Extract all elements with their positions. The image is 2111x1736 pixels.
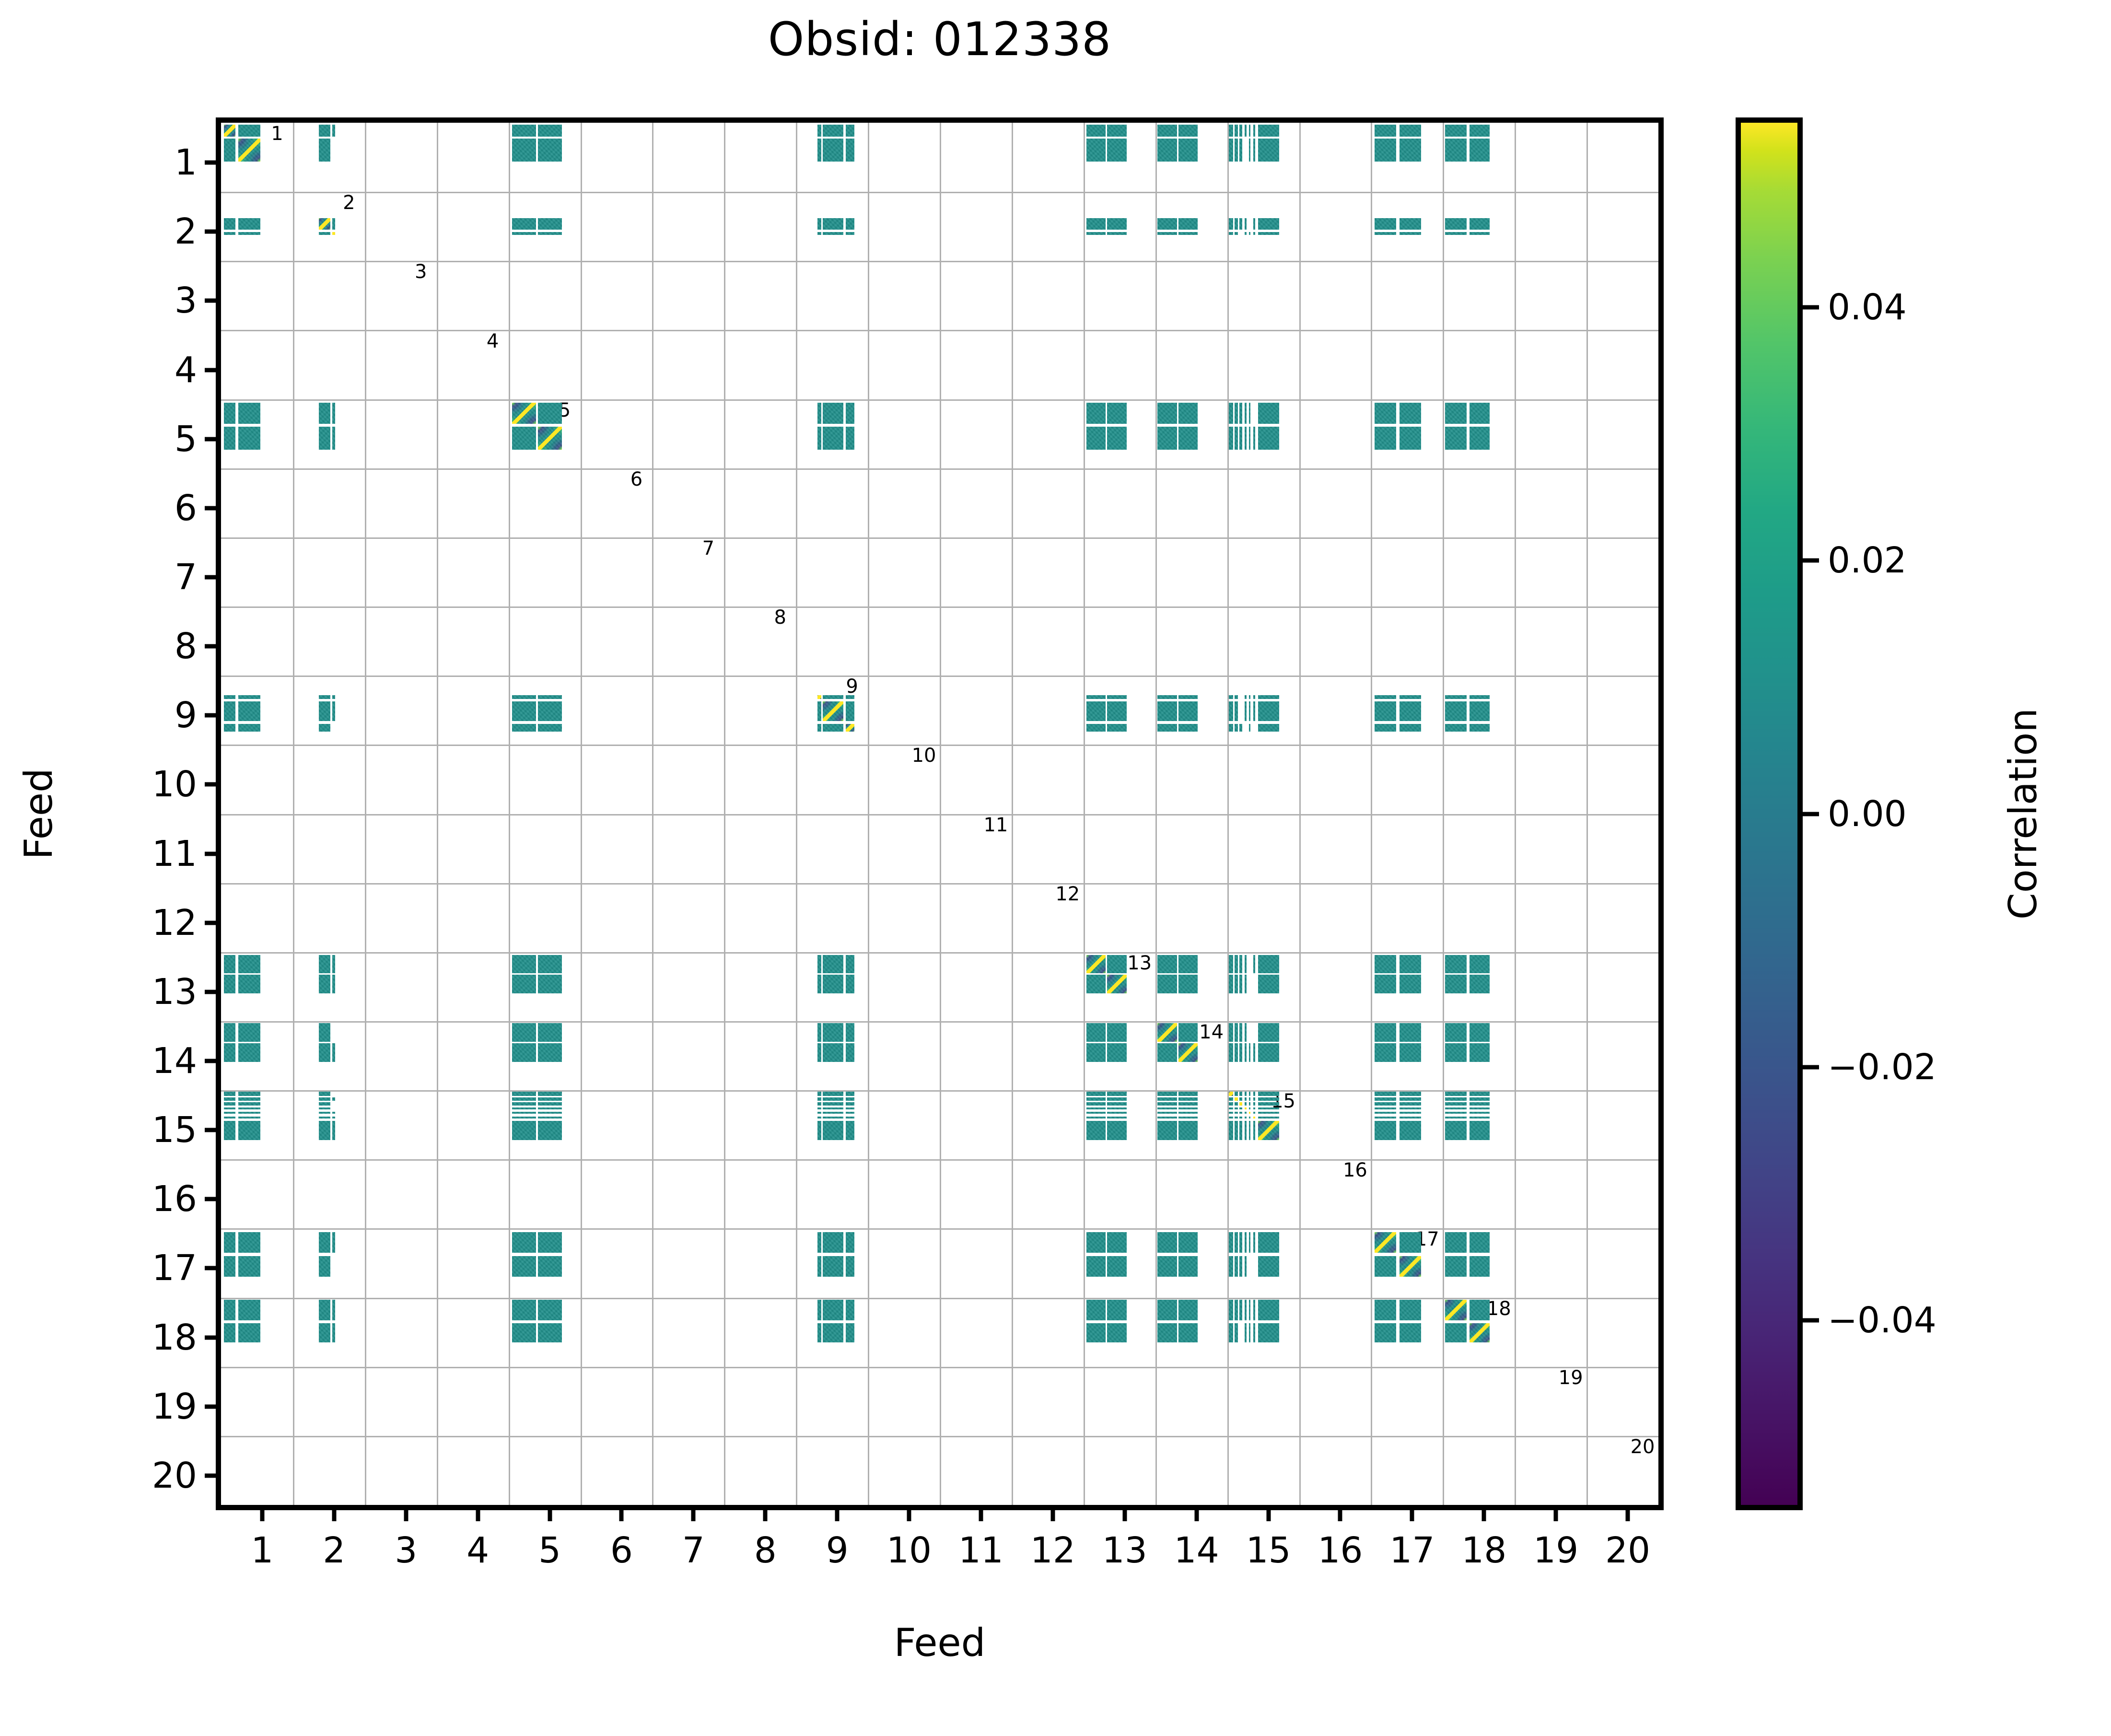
correlation-patch (1400, 955, 1421, 974)
correlation-patch (1375, 1043, 1396, 1062)
correlation-patch (823, 1232, 843, 1253)
colorbar-tick-label: 0.00 (1828, 793, 1907, 835)
correlation-patch (823, 1121, 843, 1140)
correlation-patch (1445, 1256, 1467, 1277)
x-axis-tick (1482, 1505, 1486, 1521)
correlation-patch (512, 1121, 536, 1140)
correlation-patch (1107, 1043, 1126, 1062)
correlation-patch (1239, 427, 1242, 450)
correlation-patch (1375, 955, 1396, 974)
correlation-patch (1235, 1323, 1238, 1342)
correlation-patch (224, 724, 235, 732)
correlation-patch (1178, 975, 1198, 993)
correlation-patch (1470, 427, 1490, 450)
correlation-patch (1157, 955, 1177, 974)
correlation-patch (1107, 1256, 1126, 1277)
correlation-patch (1445, 218, 1467, 230)
correlation-patch (1229, 1107, 1233, 1109)
correlation-patch (1229, 218, 1233, 230)
correlation-patch (1470, 1097, 1490, 1101)
y-axis-tick-label: 8 (175, 626, 197, 667)
y-axis-title: Feed (0, 117, 77, 1510)
x-axis-title: Feed (216, 1620, 1664, 1665)
correlation-patch (1245, 955, 1247, 974)
autocorrelation-block (319, 218, 330, 230)
correlation-patch (332, 975, 335, 993)
correlation-patch (1375, 427, 1396, 450)
correlation-patch (1253, 218, 1255, 230)
correlation-patch (1258, 1300, 1279, 1320)
correlation-patch (332, 125, 335, 137)
x-axis-tick (476, 1505, 480, 1521)
correlation-patch (1258, 975, 1279, 993)
correlation-patch (512, 1102, 536, 1106)
x-axis-tick-label: 16 (1318, 1530, 1363, 1571)
correlation-patch (512, 139, 536, 162)
x-axis-tick-label: 7 (682, 1530, 705, 1571)
correlation-patch (1239, 724, 1242, 732)
correlation-patch (1245, 1092, 1247, 1096)
correlation-patch (1375, 1112, 1396, 1114)
y-axis-tick-label: 13 (152, 971, 197, 1013)
y-axis-tick (205, 990, 221, 994)
correlation-patch (1107, 1121, 1126, 1140)
correlation-patch (224, 1112, 235, 1114)
correlation-patch (1258, 955, 1279, 974)
x-axis-tick (332, 1505, 336, 1521)
correlation-patch (846, 427, 854, 450)
correlation-patch (512, 695, 536, 699)
y-axis-tick (205, 1059, 221, 1063)
correlation-patch (332, 403, 335, 424)
correlation-patch (224, 1300, 235, 1320)
y-axis-tick-label: 2 (175, 211, 197, 252)
correlation-patch (1400, 975, 1421, 993)
correlation-patch (1157, 1256, 1177, 1277)
correlation-patch (1157, 232, 1177, 235)
correlation-patch (238, 125, 260, 137)
correlation-patch (1258, 427, 1279, 450)
cell-feed-number: 6 (630, 468, 642, 490)
x-axis-tick (548, 1505, 552, 1521)
correlation-patch (319, 139, 330, 162)
correlation-patch (1249, 1232, 1250, 1253)
correlation-patch (538, 1121, 561, 1140)
x-axis-tick (260, 1505, 264, 1521)
correlation-patch (1470, 701, 1490, 722)
correlation-patch (238, 1232, 260, 1253)
correlation-patch (1445, 125, 1467, 137)
correlation-patch (1245, 695, 1247, 699)
correlation-patch (512, 427, 536, 450)
cell-feed-number: 8 (774, 606, 786, 629)
correlation-patch (538, 218, 561, 230)
correlation-patch (823, 975, 843, 993)
cell-feed-number: 13 (1127, 952, 1152, 974)
correlation-patch (1445, 139, 1467, 162)
correlation-patch (1157, 724, 1177, 732)
correlation-patch (1235, 1300, 1238, 1320)
correlation-patch (1445, 403, 1467, 424)
correlation-patch (817, 1232, 821, 1253)
correlation-patch (1229, 1121, 1233, 1140)
y-axis-tick-label: 5 (175, 419, 197, 460)
correlation-patch (1239, 1300, 1242, 1320)
correlation-patch (1258, 1117, 1279, 1118)
correlation-patch (1235, 975, 1238, 993)
y-axis-title-text: Feed (16, 768, 61, 860)
correlation-patch (1400, 1300, 1421, 1320)
correlation-patch (1375, 232, 1396, 235)
correlation-patch (224, 1023, 235, 1042)
correlation-patch (846, 695, 854, 699)
correlation-patch (1245, 125, 1247, 137)
y-axis-tick (205, 1128, 221, 1132)
colorbar-tick-label: −0.02 (1828, 1047, 1936, 1088)
correlation-patch (1107, 232, 1126, 235)
correlation-patch (332, 1323, 335, 1342)
correlation-patch (1258, 403, 1279, 424)
x-axis-tick (763, 1505, 768, 1521)
colorbar-tick-label: −0.04 (1828, 1300, 1936, 1341)
correlation-patch (1253, 1092, 1255, 1096)
correlation-patch (224, 1117, 235, 1118)
correlation-patch (1229, 1102, 1233, 1106)
correlation-patch (1235, 427, 1238, 450)
correlation-patch (332, 1117, 335, 1118)
correlation-patch (1086, 1107, 1106, 1109)
x-axis-tick (1554, 1505, 1558, 1521)
x-axis-tick-label: 15 (1246, 1530, 1291, 1571)
autocorrelation-block (1178, 1043, 1198, 1062)
correlation-patch (1239, 1232, 1242, 1253)
correlation-patch (846, 1023, 854, 1042)
correlation-patch (1157, 695, 1177, 699)
x-axis-tick (1266, 1505, 1271, 1521)
correlation-patch (846, 403, 854, 424)
cell-feed-number: 10 (912, 745, 936, 767)
correlation-patch (512, 125, 536, 137)
correlation-patch (1107, 724, 1126, 732)
correlation-patch (1229, 403, 1233, 424)
correlation-patch (538, 1323, 561, 1342)
correlation-patch (238, 218, 260, 230)
correlation-patch (512, 955, 536, 974)
y-axis-tick-label: 20 (152, 1455, 197, 1496)
correlation-patch (1235, 1256, 1238, 1277)
correlation-patch (823, 724, 843, 732)
x-axis-tick (1410, 1505, 1414, 1521)
y-axis-tick-label: 3 (175, 280, 197, 321)
correlation-patch (1400, 139, 1421, 162)
correlation-patch (1253, 955, 1255, 974)
correlation-patch (846, 1232, 854, 1253)
correlation-patch (512, 1256, 536, 1277)
correlation-patch (1253, 1121, 1255, 1140)
correlation-patch (1445, 1043, 1467, 1062)
correlation-patch (224, 1323, 235, 1342)
correlation-patch (1470, 232, 1490, 235)
gridline-horizontal (221, 1298, 1658, 1299)
cell-feed-number: 18 (1487, 1298, 1511, 1320)
x-axis-tick-label: 3 (395, 1530, 417, 1571)
correlation-patch (1249, 1097, 1250, 1101)
x-axis-tick-label: 6 (610, 1530, 633, 1571)
colorbar-tick (1803, 1318, 1819, 1322)
correlation-patch (1445, 695, 1467, 699)
correlation-patch (817, 125, 821, 137)
correlation-patch (1229, 1023, 1233, 1042)
x-axis-tick (907, 1505, 911, 1521)
correlation-patch (1253, 1232, 1255, 1253)
correlation-patch (823, 232, 843, 235)
correlation-patch (224, 701, 235, 722)
correlation-patch (817, 139, 821, 162)
correlation-patch (1245, 1256, 1247, 1277)
correlation-patch (1157, 1043, 1177, 1062)
correlation-patch (1375, 1117, 1396, 1118)
correlation-patch (1178, 1112, 1198, 1114)
correlation-patch (224, 139, 235, 162)
correlation-patch (1445, 1117, 1467, 1118)
y-axis-tick-label: 7 (175, 557, 197, 598)
correlation-patch (1375, 1023, 1396, 1042)
correlation-patch (224, 1092, 235, 1096)
correlation-patch (1157, 1300, 1177, 1320)
correlation-patch (319, 1232, 330, 1253)
correlation-patch (1239, 1117, 1242, 1118)
correlation-patch (1178, 125, 1198, 137)
cell-feed-number: 4 (487, 330, 499, 352)
autocorrelation-block (224, 125, 235, 137)
correlation-patch (1178, 1323, 1198, 1342)
correlation-patch (1157, 139, 1177, 162)
cell-feed-number: 19 (1559, 1367, 1583, 1389)
correlation-patch (1239, 1107, 1242, 1109)
correlation-patch (823, 139, 843, 162)
correlation-patch (1178, 427, 1198, 450)
correlation-patch (238, 1102, 260, 1106)
correlation-patch (238, 427, 260, 450)
correlation-patch (1445, 1107, 1467, 1109)
correlation-patch (1178, 1107, 1198, 1109)
correlation-patch (1249, 1092, 1250, 1096)
correlation-patch (512, 232, 536, 235)
correlation-patch (1235, 955, 1238, 974)
correlation-patch (1229, 975, 1233, 993)
autocorrelation-block (1249, 1112, 1250, 1114)
autocorrelation-block (1375, 1232, 1396, 1253)
correlation-patch (1229, 1232, 1233, 1253)
correlation-patch (1249, 232, 1250, 235)
correlation-patch (1470, 975, 1490, 993)
correlation-patch (1235, 1023, 1238, 1042)
correlation-patch (1445, 1232, 1467, 1253)
gridline-vertical (1515, 123, 1516, 1505)
correlation-patch (512, 1092, 536, 1096)
correlation-patch (1400, 1092, 1421, 1096)
correlation-patch (1400, 1117, 1421, 1118)
correlation-patch (817, 1323, 821, 1342)
correlation-patch (319, 1300, 330, 1320)
correlation-patch (1235, 1112, 1238, 1114)
correlation-patch (538, 403, 561, 424)
correlation-patch (1107, 1112, 1126, 1114)
x-axis-tick (619, 1505, 624, 1521)
correlation-patch (1445, 724, 1467, 732)
correlation-patch (238, 1092, 260, 1096)
correlation-patch (319, 1023, 330, 1042)
correlation-patch (1249, 427, 1250, 450)
correlation-patch (1445, 1323, 1467, 1342)
correlation-patch (1470, 1300, 1490, 1320)
correlation-patch (512, 1023, 536, 1042)
correlation-patch (817, 232, 821, 235)
correlation-patch (1375, 1256, 1396, 1277)
correlation-patch (1178, 1097, 1198, 1101)
correlation-patch (332, 1043, 335, 1062)
correlation-patch (817, 403, 821, 424)
correlation-patch (1400, 1102, 1421, 1106)
correlation-patch (1375, 1092, 1396, 1096)
correlation-patch (1178, 218, 1198, 230)
correlation-patch (1258, 695, 1279, 699)
autocorrelation-block (823, 701, 843, 722)
correlation-patch (1235, 724, 1238, 732)
y-axis-tick-label: 6 (175, 488, 197, 529)
cell-feed-number: 11 (983, 814, 1008, 836)
cell-feed-number: 20 (1631, 1436, 1655, 1458)
colorbar-tick (1803, 305, 1819, 310)
cell-feed-number: 7 (702, 537, 714, 559)
colorbar-tick-label: 0.02 (1828, 540, 1907, 581)
correlation-patch (319, 1043, 330, 1062)
correlation-patch (817, 1300, 821, 1320)
gridline-vertical (1586, 123, 1588, 1505)
correlation-patch (538, 1300, 561, 1320)
x-axis-tick (1122, 1505, 1127, 1521)
x-axis-tick-label: 13 (1102, 1530, 1147, 1571)
correlation-patch (1249, 1102, 1250, 1106)
correlation-patch (817, 701, 821, 722)
correlation-patch (332, 1300, 335, 1320)
correlation-patch (1235, 125, 1238, 137)
y-axis-tick-label: 1 (175, 142, 197, 183)
correlation-patch (238, 1323, 260, 1342)
correlation-patch (1400, 695, 1421, 699)
correlation-patch (1253, 1112, 1255, 1114)
correlation-patch (319, 695, 330, 699)
correlation-patch (846, 955, 854, 974)
correlation-patch (1229, 955, 1233, 974)
colorbar-tick (1803, 812, 1819, 816)
correlation-patch (332, 1112, 335, 1114)
correlation-patch (319, 1256, 330, 1277)
correlation-patch (1086, 1232, 1106, 1253)
correlation-patch (846, 232, 854, 235)
correlation-patch (512, 1300, 536, 1320)
correlation-patch (1107, 701, 1126, 722)
correlation-patch (1107, 1107, 1126, 1109)
x-axis-tick (404, 1505, 408, 1521)
correlation-patch (332, 955, 335, 974)
correlation-patch (1258, 125, 1279, 137)
correlation-patch (538, 1112, 561, 1114)
colorbar-gradient (1736, 117, 1803, 1510)
y-axis-tick-label: 17 (152, 1247, 197, 1289)
correlation-patch (1086, 724, 1106, 732)
autocorrelation-block (1253, 1117, 1255, 1118)
correlation-patch (1400, 1112, 1421, 1114)
correlation-patch (538, 125, 561, 137)
correlation-patch (238, 701, 260, 722)
correlation-patch (823, 695, 843, 699)
y-axis-tick-label: 15 (152, 1109, 197, 1151)
correlation-patch (1253, 1097, 1255, 1101)
correlation-patch (1245, 1097, 1247, 1101)
correlation-patch (1239, 403, 1242, 424)
y-axis-tick (205, 161, 221, 165)
correlation-patch (817, 1121, 821, 1140)
correlation-patch (1229, 125, 1233, 137)
correlation-patch (319, 1102, 330, 1106)
correlation-patch (1375, 1097, 1396, 1101)
correlation-patch (846, 125, 854, 137)
correlation-patch (1235, 1121, 1238, 1140)
correlation-patch (1157, 701, 1177, 722)
correlation-patch (846, 1097, 854, 1101)
correlation-patch (1178, 1117, 1198, 1118)
correlation-patch (238, 1097, 260, 1101)
correlation-patch (332, 695, 335, 699)
correlation-patch (538, 701, 561, 722)
correlation-patch (1375, 1323, 1396, 1342)
correlation-patch (1157, 403, 1177, 424)
x-axis-tick-label: 11 (958, 1530, 1003, 1571)
correlation-patch (238, 724, 260, 732)
correlation-patch (1178, 1092, 1198, 1096)
correlation-patch (817, 1102, 821, 1106)
correlation-patch (823, 427, 843, 450)
correlation-patch (1157, 1117, 1177, 1118)
autocorrelation-block (1157, 1023, 1177, 1042)
autocorrelation-block (1239, 1102, 1242, 1106)
correlation-patch (1107, 1300, 1126, 1320)
correlation-patch (538, 1102, 561, 1106)
correlation-patch (319, 1112, 330, 1114)
correlation-patch (224, 1107, 235, 1109)
correlation-patch (238, 695, 260, 699)
y-axis-tick (205, 506, 221, 510)
correlation-patch (823, 1300, 843, 1320)
correlation-patch (1253, 695, 1255, 699)
correlation-patch (1470, 139, 1490, 162)
correlation-patch (1258, 724, 1279, 732)
correlation-patch (319, 955, 330, 974)
colorbar-title-text: Correlation (2001, 708, 2046, 920)
correlation-patch (1400, 1097, 1421, 1101)
correlation-patch (1375, 1121, 1396, 1140)
correlation-patch (1086, 1092, 1106, 1096)
x-axis-tick-label: 18 (1461, 1530, 1506, 1571)
correlation-patch (1086, 1043, 1106, 1062)
y-axis-tick-label: 18 (152, 1317, 197, 1358)
correlation-patch (1249, 1043, 1250, 1062)
correlation-patch (512, 1043, 536, 1062)
autocorrelation-block (1235, 1097, 1238, 1101)
autocorrelation-block (1086, 955, 1106, 974)
correlation-patch (1178, 1232, 1198, 1253)
